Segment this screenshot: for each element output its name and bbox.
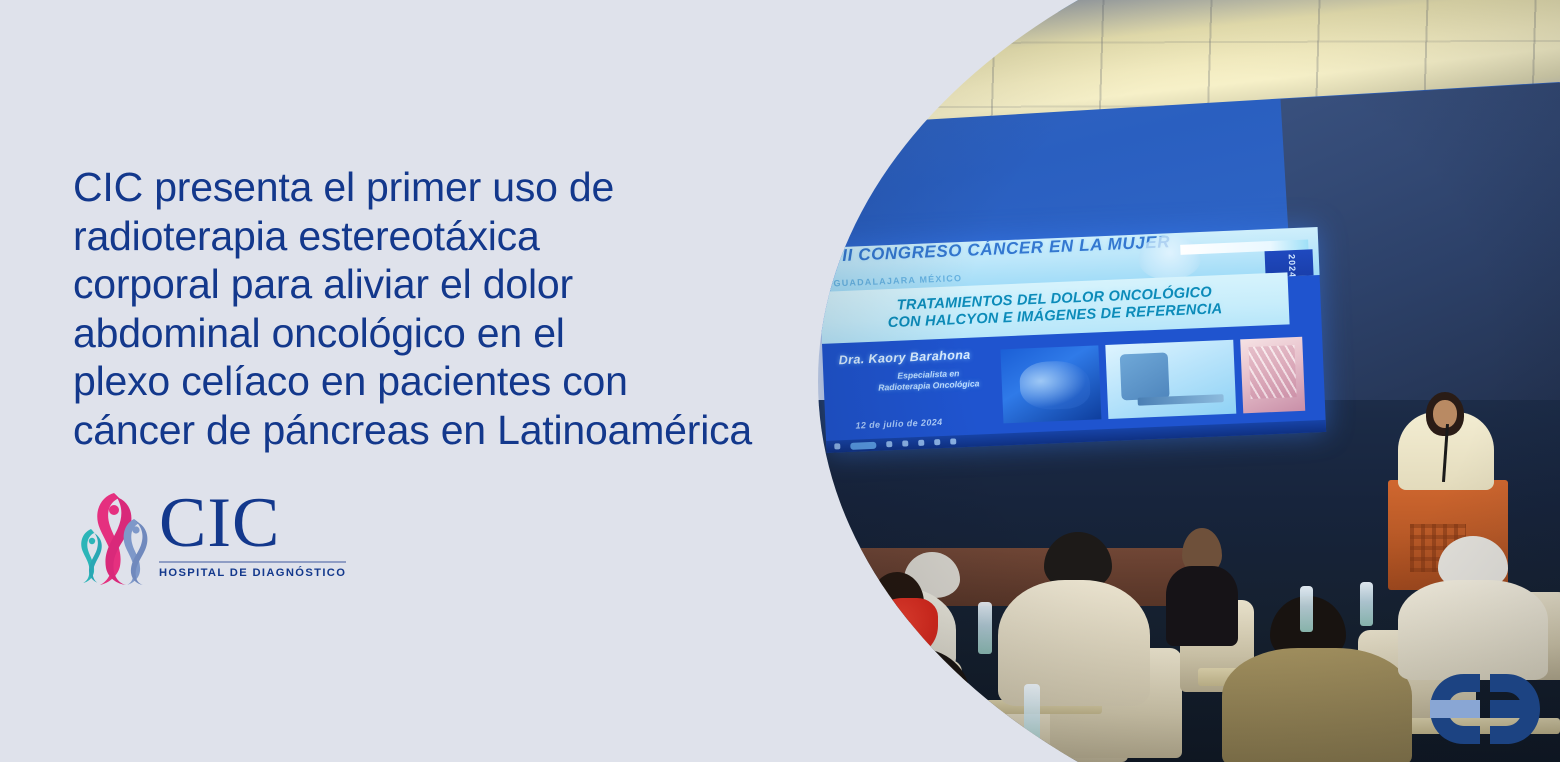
left-text-panel: CIC presenta el primer uso de radioterap… (0, 0, 830, 762)
slide-title: TRATAMIENTOS DEL DOLOR ONCOLÓGICO CON HA… (887, 284, 1223, 333)
water-bottle (978, 602, 992, 654)
slide-thumbnails (1000, 336, 1313, 423)
taskbar-button (850, 441, 876, 449)
audience-person (998, 580, 1150, 706)
page-title: CIC presenta el primer uso de radioterap… (73, 163, 813, 454)
water-bottle (1300, 586, 1313, 632)
cic-watermark-icon (1428, 670, 1544, 748)
slide-canvas: CIC presenta el primer uso de radioterap… (0, 0, 1560, 762)
taskbar-icon (834, 443, 840, 449)
thumbnail-illustration (1240, 337, 1305, 414)
slide-speaker-role: Especialista en Radioterapia Oncológica (853, 366, 1004, 394)
audience-person (1398, 580, 1548, 680)
slide-speaker-name: Dra. Kaory Barahona (838, 348, 970, 368)
year-badge-label: 2024 (1287, 254, 1298, 278)
taskbar-icon (886, 441, 892, 447)
slide-date: 12 de julio de 2024 (855, 417, 942, 431)
taskbar-icon (934, 439, 940, 445)
water-bottle (1024, 684, 1040, 756)
audience-person (1222, 648, 1412, 762)
event-photo: VII CONGRESO CÁNCER EN LA MUJER GUADALAJ… (818, 0, 1560, 762)
taskbar-icon (950, 438, 956, 444)
cic-ribbon-icon (73, 487, 151, 585)
cic-wordmark: CIC (159, 489, 346, 557)
water-bottle (1360, 582, 1373, 626)
congress-face-graphic (1138, 234, 1202, 281)
presentation-screen: VII CONGRESO CÁNCER EN LA MUJER GUADALAJ… (818, 227, 1326, 453)
taskbar-icon (918, 440, 924, 446)
cic-tagline: HOSPITAL DE DIAGNÓSTICO (159, 567, 346, 579)
cic-wordmark-group: CIC HOSPITAL DE DIAGNÓSTICO (159, 487, 346, 579)
taskbar-icon (902, 440, 908, 446)
audience-person (818, 716, 946, 762)
thumbnail-linac (1105, 340, 1236, 419)
thumbnail-patient (1000, 345, 1101, 423)
logo-divider (159, 561, 346, 563)
audience-person (1166, 566, 1238, 646)
cic-logo: CIC HOSPITAL DE DIAGNÓSTICO (73, 487, 323, 587)
